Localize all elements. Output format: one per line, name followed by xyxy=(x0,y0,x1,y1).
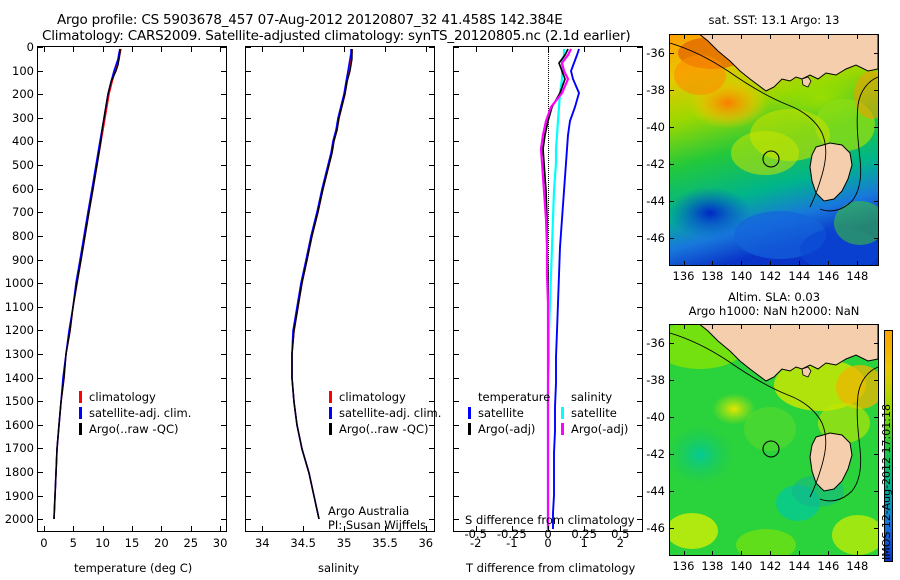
legend-label-satellite-adj: satellite-adj. clim. xyxy=(339,406,441,420)
depth-label: 1000 xyxy=(0,276,34,290)
depth-tick xyxy=(38,330,43,331)
lon-tick-top xyxy=(828,324,829,329)
depth-tick-right xyxy=(429,118,434,119)
depth-tick-right xyxy=(637,307,642,308)
lon-tick-top xyxy=(712,34,713,39)
depth-tick xyxy=(454,330,459,331)
lon-tick xyxy=(857,261,858,266)
salinity-x-tick-top xyxy=(262,47,263,52)
depth-label: 700 xyxy=(0,205,34,219)
depth-tick-right xyxy=(221,283,226,284)
depth-tick xyxy=(454,260,459,261)
lat-label: -38 xyxy=(637,373,665,387)
legend-swatch-sal-argo-adj xyxy=(561,423,564,435)
map-sla-title-line2: Argo h1000: NaN h2000: NaN xyxy=(659,304,889,318)
lat-label: -40 xyxy=(637,120,665,134)
lon-tick-top xyxy=(684,324,685,329)
legend-label-climatology: climatology xyxy=(89,390,156,404)
depth-label: 800 xyxy=(0,229,34,243)
depth-tick-right xyxy=(429,519,434,520)
depth-tick xyxy=(246,189,251,190)
depth-tick-right xyxy=(221,448,226,449)
depth-tick-right xyxy=(429,283,434,284)
panel-salinity-plot xyxy=(246,47,434,531)
salinity-x-label: 34.5 xyxy=(281,536,325,550)
lat-tick-right xyxy=(874,380,879,381)
legend-label-sal-satellite: satellite xyxy=(571,406,617,420)
lat-label: -36 xyxy=(637,46,665,60)
depth-tick xyxy=(38,47,43,48)
lon-tick xyxy=(770,261,771,266)
lon-tick-top xyxy=(799,324,800,329)
depth-tick-right xyxy=(429,165,434,166)
lat-tick xyxy=(669,238,674,239)
depth-tick-right xyxy=(429,212,434,213)
depth-tick xyxy=(38,307,43,308)
depth-tick-right xyxy=(221,47,226,48)
map-sst-canvas xyxy=(670,35,878,265)
lon-tick-top xyxy=(857,34,858,39)
depth-tick xyxy=(38,496,43,497)
depth-tick-right xyxy=(221,165,226,166)
depth-tick-right xyxy=(221,307,226,308)
depth-tick xyxy=(246,378,251,379)
map-sst-title: sat. SST: 13.1 Argo: 13 xyxy=(669,13,879,27)
map-sla-canvas xyxy=(670,325,878,555)
depth-tick xyxy=(454,94,459,95)
depth-label: 1500 xyxy=(0,394,34,408)
lon-label: 148 xyxy=(839,269,875,283)
lat-label: -46 xyxy=(637,521,665,535)
depth-tick xyxy=(454,519,459,520)
lat-tick-right xyxy=(874,343,879,344)
salinity-x-tick-top xyxy=(303,47,304,52)
legend-swatch-satellite-adj xyxy=(329,407,332,419)
depth-tick xyxy=(38,118,43,119)
depth-tick xyxy=(454,189,459,190)
depth-tick-right xyxy=(429,378,434,379)
lat-tick-right xyxy=(874,53,879,54)
temperature-x-tick-top xyxy=(103,47,104,52)
depth-tick-right xyxy=(429,472,434,473)
depth-tick-right xyxy=(637,141,642,142)
lon-tick-top xyxy=(684,34,685,39)
lon-tick xyxy=(857,551,858,556)
depth-tick xyxy=(38,189,43,190)
lat-tick xyxy=(669,343,674,344)
depth-tick-right xyxy=(221,472,226,473)
depth-tick xyxy=(38,236,43,237)
lon-tick-top xyxy=(712,324,713,329)
lat-label: -38 xyxy=(637,83,665,97)
lat-label: -42 xyxy=(637,157,665,171)
temperature-x-tick xyxy=(132,526,133,531)
depth-tick xyxy=(246,448,251,449)
lat-tick xyxy=(669,380,674,381)
lon-tick xyxy=(712,261,713,266)
depth-tick xyxy=(454,283,459,284)
salinity-x-tick xyxy=(262,526,263,531)
depth-tick xyxy=(246,472,251,473)
depth-tick xyxy=(246,212,251,213)
depth-tick xyxy=(246,118,251,119)
depth-tick xyxy=(38,212,43,213)
lat-tick xyxy=(669,528,674,529)
panel-salinity-footer-line1: Argo Australia xyxy=(328,504,409,518)
temperature-x-tick xyxy=(191,526,192,531)
depth-tick-right xyxy=(429,94,434,95)
depth-tick-right xyxy=(221,212,226,213)
lon-tick xyxy=(712,551,713,556)
depth-label: 400 xyxy=(0,134,34,148)
depth-tick xyxy=(454,472,459,473)
depth-tick-right xyxy=(429,260,434,261)
depth-tick-right xyxy=(637,401,642,402)
depth-tick xyxy=(454,47,459,48)
depth-tick-right xyxy=(221,260,226,261)
lat-tick xyxy=(669,454,674,455)
temperature-x-tick xyxy=(161,526,162,531)
lat-label: -40 xyxy=(637,410,665,424)
depth-tick xyxy=(246,165,251,166)
lat-tick xyxy=(669,164,674,165)
lon-tick xyxy=(684,551,685,556)
depth-label: 200 xyxy=(0,87,34,101)
lon-tick-top xyxy=(799,34,800,39)
temperature-x-tick xyxy=(44,526,45,531)
depth-label: 1600 xyxy=(0,418,34,432)
depth-tick xyxy=(454,165,459,166)
lon-tick xyxy=(741,261,742,266)
depth-tick-right xyxy=(221,425,226,426)
figure-title-line2: Climatology: CARS2009. Satellite-adjuste… xyxy=(42,28,630,44)
depth-tick-right xyxy=(221,496,226,497)
depth-tick-right xyxy=(637,71,642,72)
depth-tick-right xyxy=(221,354,226,355)
legend-header-salinity: salinity xyxy=(571,390,612,406)
lat-label: -46 xyxy=(637,231,665,245)
depth-tick-right xyxy=(637,472,642,473)
lat-label: -36 xyxy=(637,336,665,350)
lon-tick xyxy=(741,551,742,556)
lat-label: -44 xyxy=(637,484,665,498)
depth-tick xyxy=(246,354,251,355)
depth-label: 1700 xyxy=(0,441,34,455)
depth-tick xyxy=(246,283,251,284)
depth-tick-right xyxy=(429,401,434,402)
lat-tick-right xyxy=(874,417,879,418)
depth-tick xyxy=(38,94,43,95)
depth-tick-right xyxy=(221,519,226,520)
depth-label: 300 xyxy=(0,111,34,125)
panel-difference-xlabel-top: S difference from climatology xyxy=(465,513,635,527)
depth-tick-right xyxy=(429,189,434,190)
salinity-x-label: 34 xyxy=(240,536,284,550)
depth-tick xyxy=(246,496,251,497)
temperature-x-label: 30 xyxy=(198,536,242,550)
lon-tick xyxy=(828,551,829,556)
depth-tick xyxy=(454,236,459,237)
panel-salinity-xlabel: salinity xyxy=(318,561,359,575)
depth-tick xyxy=(246,71,251,72)
depth-tick xyxy=(246,330,251,331)
depth-tick xyxy=(454,496,459,497)
legend-swatch-temp-argo-adj xyxy=(468,423,471,435)
lon-tick-top xyxy=(741,324,742,329)
depth-label: 1400 xyxy=(0,371,34,385)
depth-tick-right xyxy=(221,378,226,379)
lat-tick xyxy=(669,127,674,128)
legend-label-argo-raw: Argo(..raw -QC) xyxy=(339,422,429,436)
lat-tick xyxy=(669,53,674,54)
lon-tick-top xyxy=(857,324,858,329)
lon-tick-top xyxy=(828,34,829,39)
legend-swatch-climatology xyxy=(79,391,82,403)
lat-label: -44 xyxy=(637,194,665,208)
depth-tick xyxy=(454,71,459,72)
salinity-x-tick xyxy=(303,526,304,531)
depth-tick xyxy=(454,448,459,449)
depth-tick-right xyxy=(637,330,642,331)
depth-tick-right xyxy=(429,354,434,355)
lat-tick xyxy=(669,417,674,418)
depth-tick-right xyxy=(637,260,642,261)
depth-tick-right xyxy=(221,141,226,142)
depth-label: 500 xyxy=(0,158,34,172)
depth-label: 1300 xyxy=(0,347,34,361)
lat-tick-right xyxy=(874,528,879,529)
map-sst-frame xyxy=(669,34,879,266)
depth-label: 1800 xyxy=(0,465,34,479)
depth-tick-right xyxy=(221,94,226,95)
depth-tick-right xyxy=(221,401,226,402)
depth-tick xyxy=(454,307,459,308)
depth-tick-right xyxy=(221,236,226,237)
depth-tick xyxy=(38,354,43,355)
depth-tick-right xyxy=(429,236,434,237)
figure-title-line1: Argo profile: CS 5903678_457 07-Aug-2012… xyxy=(57,12,563,28)
depth-tick xyxy=(454,401,459,402)
panel-difference-xlabel-bottom: T difference from climatology xyxy=(466,561,635,575)
lat-label: -42 xyxy=(637,447,665,461)
depth-tick xyxy=(38,472,43,473)
legend-swatch-sal-satellite xyxy=(561,407,564,419)
depth-tick xyxy=(246,307,251,308)
panel-difference-plot xyxy=(454,47,642,531)
lon-tick xyxy=(684,261,685,266)
temperature-x-tick xyxy=(220,526,221,531)
depth-tick-right xyxy=(637,354,642,355)
lat-tick-right xyxy=(874,491,879,492)
depth-tick xyxy=(38,401,43,402)
lat-tick xyxy=(669,90,674,91)
depth-tick xyxy=(246,141,251,142)
legend-swatch-satellite-adj xyxy=(79,407,82,419)
depth-tick xyxy=(246,260,251,261)
depth-tick xyxy=(38,71,43,72)
depth-tick xyxy=(246,425,251,426)
lon-tick-top xyxy=(770,34,771,39)
salinity-x-label: 35 xyxy=(322,536,366,550)
depth-tick xyxy=(38,425,43,426)
temperature-x-tick-top xyxy=(161,47,162,52)
depth-tick-right xyxy=(429,307,434,308)
depth-tick-right xyxy=(637,118,642,119)
temperature-x-tick xyxy=(73,526,74,531)
legend-label-temp-satellite: satellite xyxy=(478,406,524,420)
depth-label: 600 xyxy=(0,182,34,196)
panel-difference-legend-temperature: temperature satellite Argo(-adj) xyxy=(468,390,550,438)
lon-tick xyxy=(770,551,771,556)
temperature-x-tick-top xyxy=(191,47,192,52)
lon-tick-top xyxy=(741,34,742,39)
lon-label: 148 xyxy=(839,559,875,573)
depth-tick xyxy=(38,283,43,284)
tdiff-x-tick-top xyxy=(548,47,549,52)
depth-tick xyxy=(454,425,459,426)
depth-tick-right xyxy=(637,425,642,426)
salinity-x-label: 36 xyxy=(404,536,448,550)
lat-tick-right xyxy=(874,454,879,455)
panel-salinity-footer-line2: PI: Susan Wijffels xyxy=(328,518,426,532)
depth-tick xyxy=(454,141,459,142)
depth-tick xyxy=(246,94,251,95)
legend-label-satellite-adj: satellite-adj. clim. xyxy=(89,406,191,420)
depth-tick xyxy=(454,212,459,213)
depth-tick-right xyxy=(637,212,642,213)
depth-tick-right xyxy=(221,71,226,72)
depth-tick-right xyxy=(429,496,434,497)
panel-temperature-plot xyxy=(38,47,226,531)
depth-tick xyxy=(246,401,251,402)
legend-swatch-argo-raw xyxy=(329,423,332,435)
imos-credit: IMOS 12-Aug-2012 17:01:18 xyxy=(880,404,893,560)
depth-tick xyxy=(38,378,43,379)
lat-tick xyxy=(669,201,674,202)
lat-tick xyxy=(669,491,674,492)
legend-header-temperature: temperature xyxy=(478,390,550,406)
depth-tick-right xyxy=(221,118,226,119)
depth-tick-right xyxy=(221,330,226,331)
temperature-x-tick xyxy=(103,526,104,531)
tdiff-x-tick-top xyxy=(512,47,513,52)
salinity-x-tick-top xyxy=(426,47,427,52)
legend-swatch-temp-satellite xyxy=(468,407,471,419)
depth-label: 1100 xyxy=(0,300,34,314)
legend-swatch-climatology xyxy=(329,391,332,403)
salinity-x-tick-top xyxy=(385,47,386,52)
depth-label: 2000 xyxy=(0,512,34,526)
depth-label: 100 xyxy=(0,64,34,78)
tdiff-x-tick-top xyxy=(584,47,585,52)
lat-tick-right xyxy=(874,127,879,128)
depth-tick xyxy=(246,519,251,520)
depth-tick-right xyxy=(429,141,434,142)
temperature-x-tick-top xyxy=(44,47,45,52)
depth-tick-right xyxy=(429,448,434,449)
depth-tick-right xyxy=(637,283,642,284)
tdiff-x-tick-top xyxy=(476,47,477,52)
depth-label: 0 xyxy=(0,40,34,54)
legend-label-temp-argo-adj: Argo(-adj) xyxy=(478,422,535,436)
depth-tick-right xyxy=(429,47,434,48)
temperature-x-tick-top xyxy=(73,47,74,52)
lat-tick-right xyxy=(874,164,879,165)
lon-tick xyxy=(799,551,800,556)
depth-tick xyxy=(38,260,43,261)
lat-tick-right xyxy=(874,90,879,91)
depth-tick xyxy=(38,519,43,520)
depth-tick xyxy=(38,165,43,166)
lon-tick xyxy=(828,261,829,266)
depth-tick xyxy=(246,236,251,237)
lat-tick-right xyxy=(874,201,879,202)
salinity-x-label: 35.5 xyxy=(363,536,407,550)
depth-tick-right xyxy=(637,519,642,520)
depth-label: 900 xyxy=(0,253,34,267)
legend-swatch-argo-raw xyxy=(79,423,82,435)
depth-tick-right xyxy=(221,189,226,190)
lon-tick-top xyxy=(770,324,771,329)
legend-label-climatology: climatology xyxy=(339,390,406,404)
depth-tick-right xyxy=(429,330,434,331)
lon-tick xyxy=(799,261,800,266)
panel-temperature-xlabel: temperature (deg C) xyxy=(74,561,192,575)
depth-tick xyxy=(246,47,251,48)
depth-tick xyxy=(454,118,459,119)
panel-difference-legend-salinity: salinity satellite Argo(-adj) xyxy=(561,390,612,438)
depth-tick-right xyxy=(637,189,642,190)
depth-tick-right xyxy=(429,425,434,426)
depth-tick-right xyxy=(429,71,434,72)
map-sla-title-line1: Altim. SLA: 0.03 xyxy=(669,290,879,304)
legend-label-argo-raw: Argo(..raw -QC) xyxy=(89,422,179,436)
depth-label: 1200 xyxy=(0,323,34,337)
depth-tick xyxy=(454,378,459,379)
map-sla-frame xyxy=(669,324,879,556)
depth-tick xyxy=(38,448,43,449)
lat-tick-right xyxy=(874,238,879,239)
temperature-x-tick-top xyxy=(132,47,133,52)
tdiff-x-tick-top xyxy=(620,47,621,52)
depth-tick xyxy=(38,141,43,142)
legend-label-sal-argo-adj: Argo(-adj) xyxy=(571,422,628,436)
salinity-x-tick-top xyxy=(344,47,345,52)
depth-tick xyxy=(454,354,459,355)
depth-label: 1900 xyxy=(0,489,34,503)
